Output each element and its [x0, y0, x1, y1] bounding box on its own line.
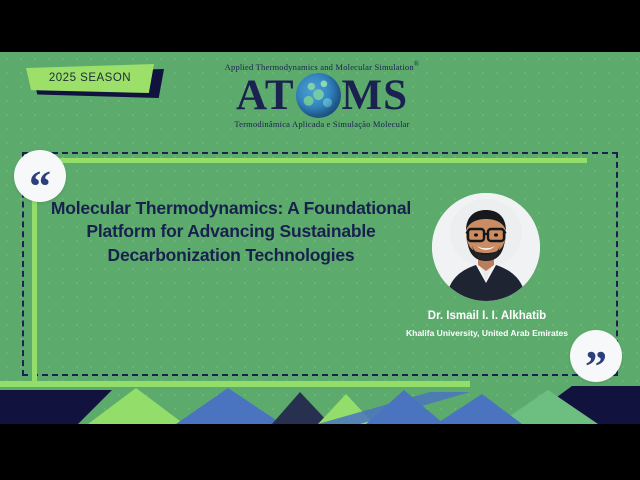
quote-open-glyph: “ — [29, 165, 51, 209]
speaker-photo — [432, 193, 540, 301]
globe-icon — [296, 73, 341, 118]
talk-title: Molecular Thermodynamics: A Foundational… — [46, 197, 416, 267]
quote-close-glyph: ” — [585, 345, 607, 389]
quote-open-icon: “ — [14, 150, 66, 202]
speaker-affiliation: Khalifa University, United Arab Emirates — [400, 328, 574, 339]
quote-close-icon: ” — [570, 330, 622, 382]
bottom-decorative-shapes — [0, 384, 640, 424]
logo-word-left: AT — [236, 74, 295, 117]
logo-word-right: MS — [342, 74, 409, 117]
registered-mark-icon: ® — [414, 60, 420, 68]
season-badge-face: 2025 SEASON — [26, 64, 154, 93]
video-frame: 2025 SEASON Applied Thermodynamics and M… — [0, 0, 640, 480]
headshot-illustration — [432, 193, 540, 301]
letterbox-bottom — [0, 424, 640, 480]
letterbox-top — [0, 0, 640, 52]
logo-wordmark: AT MS — [198, 71, 446, 121]
frame-accent-top — [32, 158, 587, 163]
speaker-name: Dr. Ismail I. I. Alkhatib — [396, 310, 578, 322]
season-badge: 2025 SEASON — [26, 64, 166, 98]
presentation-slide: 2025 SEASON Applied Thermodynamics and M… — [0, 52, 640, 424]
season-badge-label: 2025 SEASON — [49, 72, 131, 84]
atoms-logo: Applied Thermodynamics and Molecular Sim… — [198, 60, 446, 140]
